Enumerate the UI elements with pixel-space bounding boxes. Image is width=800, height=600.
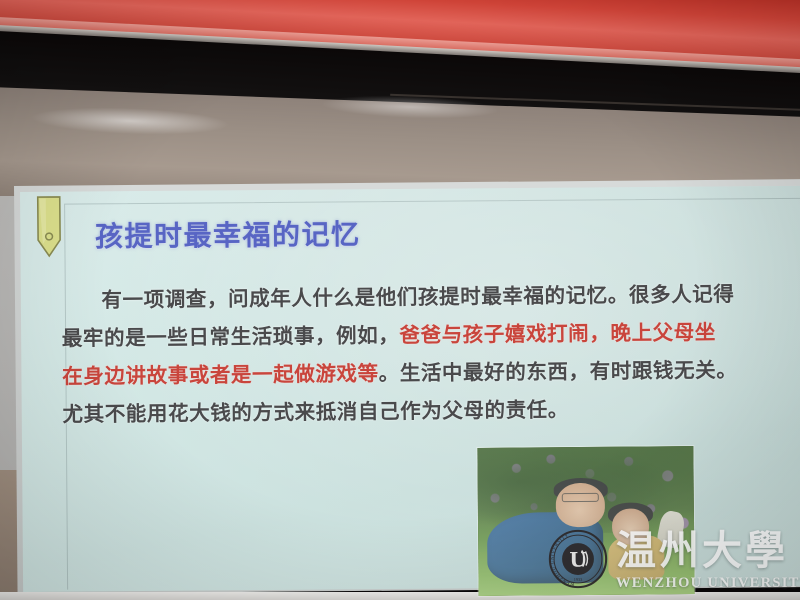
photo-projection-haze	[477, 446, 694, 596]
page-title: 孩提时最幸福的记忆	[95, 213, 361, 255]
body-line-4: 尤其不能用花大钱的方式来抵消自己作为父母的责任。	[62, 389, 762, 434]
body-run-3-1: 在身边讲故事或者是一起做游戏等	[62, 361, 379, 388]
body-run-3-2: 。生活中最好的东西，有时跟钱无关。	[379, 358, 738, 385]
body-run-1-1: 有一项调查，问成年人什么是他们孩提时最幸福的记忆。很多人记得	[101, 282, 734, 312]
body-line-3: 在身边讲故事或者是一起做游戏等。生活中最好的东西，有时跟钱无关。	[62, 351, 762, 396]
father-and-child-on-grass-photo	[477, 446, 694, 596]
body-run-2-2: 爸爸与孩子嬉戏打闹，晚上父母坐	[399, 320, 716, 347]
slide-photograph-stage: 孩提时最幸福的记忆 有一项调查，问成年人什么是他们孩提时最幸福的记忆。很多人记得…	[0, 0, 800, 600]
body-line-1: 有一项调查，问成年人什么是他们孩提时最幸福的记忆。很多人记得	[61, 275, 761, 320]
slide-body-text: 有一项调查，问成年人什么是他们孩提时最幸福的记忆。很多人记得最牢的是一些日常生活…	[61, 275, 762, 434]
bookmark-tag-icon	[36, 196, 63, 258]
body-run-2-1: 最牢的是一些日常生活琐事，例如，	[62, 323, 400, 350]
body-run-4-1: 尤其不能用花大钱的方式来抵消自己作为父母的责任。	[62, 397, 569, 426]
